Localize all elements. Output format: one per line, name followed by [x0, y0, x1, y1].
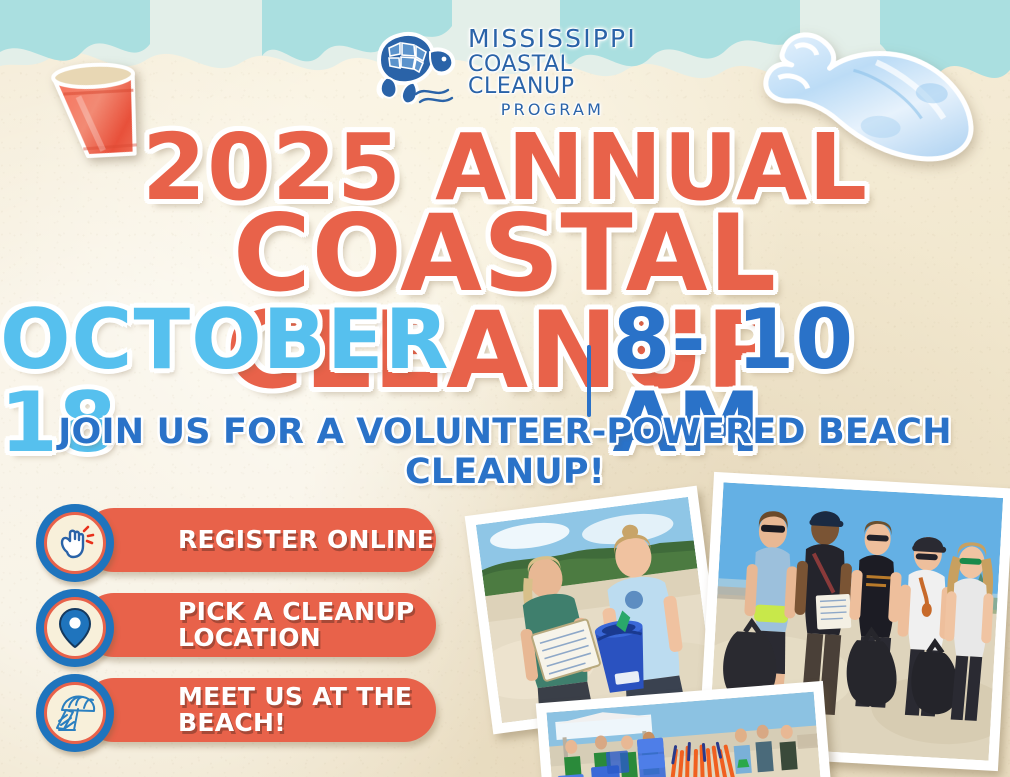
sea-turtle-icon [370, 26, 462, 114]
step-pick-location[interactable]: PICK A CLEANUPLOCATION [36, 589, 436, 661]
step-pick-location-bar[interactable]: PICK A CLEANUPLOCATION [82, 593, 436, 657]
step-meet-at-beach-label: MEET US AT THEBEACH! [178, 684, 412, 737]
step-pick-location-label: PICK A CLEANUPLOCATION [178, 599, 415, 652]
dateline-divider [587, 345, 591, 417]
step-meet-at-beach-bar[interactable]: MEET US AT THEBEACH! [82, 678, 436, 742]
coastal-cleanup-flyer: MISSISSIPPI COASTAL CLEANUP PROGRAM 2025… [0, 0, 1010, 777]
logo-line-2: COASTAL CLEANUP [468, 54, 637, 98]
program-logo: MISSISSIPPI COASTAL CLEANUP PROGRAM [370, 24, 600, 116]
step-register-online-label: REGISTER ONLINE [178, 527, 434, 553]
step-pick-location-icon-ring [36, 589, 114, 667]
steps-list: REGISTER ONLINE PICK A CLEANU [36, 504, 436, 759]
step-register-online[interactable]: REGISTER ONLINE [36, 504, 436, 576]
step-meet-at-beach-icon-ring [36, 674, 114, 752]
logo-line-1: MISSISSIPPI [468, 26, 637, 51]
pointing-hand-click-icon [54, 522, 96, 564]
map-pin-icon [57, 606, 93, 650]
step-register-online-icon-ring [36, 504, 114, 582]
step-register-online-bar[interactable]: REGISTER ONLINE [82, 508, 436, 572]
beach-umbrella-chair-icon [53, 692, 97, 734]
step-meet-at-beach[interactable]: MEET US AT THEBEACH! [36, 674, 436, 746]
